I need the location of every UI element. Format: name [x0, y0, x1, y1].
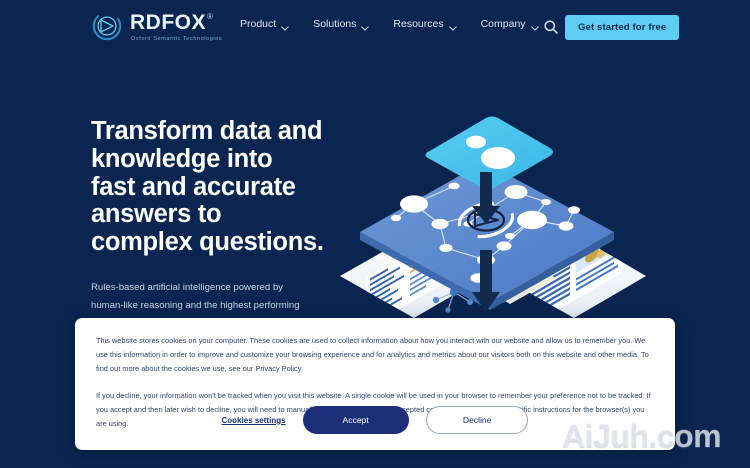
get-started-button[interactable]: Get started for free	[565, 15, 679, 40]
hero-title-line-3: fast and accurate	[91, 173, 296, 201]
search-icon[interactable]	[543, 19, 559, 35]
logo-text: RDFOX ® Oxford Semantic Technologies	[130, 12, 222, 42]
page-title: Transform data and knowledge into fast a…	[91, 118, 341, 257]
nav-label: Solutions	[313, 18, 356, 30]
accept-button[interactable]: Accept	[303, 406, 409, 434]
hero-title-line-1: Transform data and	[91, 117, 322, 145]
nav-label: Company	[481, 18, 526, 30]
hero-section: Transform data and knowledge into fast a…	[91, 118, 341, 332]
primary-navigation: Product Solutions Resources Company	[240, 18, 539, 30]
logo[interactable]: RDFOX ® Oxford Semantic Technologies	[90, 9, 222, 43]
hero-title-line-2: knowledge into	[91, 145, 272, 173]
nav-item-product[interactable]: Product	[240, 18, 289, 30]
cookie-actions: Cookies settings Accept Decline	[75, 406, 675, 434]
cookies-settings-link[interactable]: Cookies settings	[222, 416, 286, 425]
nav-item-resources[interactable]: Resources	[393, 18, 456, 30]
page-root: RDFOX ® Oxford Semantic Technologies Pro…	[0, 0, 750, 468]
logo-wordmark: RDFOX	[130, 12, 206, 33]
hero-title-line-5: complex questions.	[91, 228, 324, 256]
cookie-paragraph-1: This website stores cookies on your comp…	[96, 334, 654, 377]
chevron-down-icon	[281, 22, 289, 27]
nav-item-company[interactable]: Company	[481, 18, 539, 30]
decline-button[interactable]: Decline	[426, 406, 529, 434]
chevron-down-icon	[449, 22, 457, 27]
chevron-down-icon	[361, 22, 369, 27]
site-header: RDFOX ® Oxford Semantic Technologies Pro…	[0, 0, 750, 54]
isometric-knowledge-graph-illustration	[318, 100, 668, 330]
rdfox-logo-icon	[90, 9, 124, 43]
logo-tagline: Oxford Semantic Technologies	[131, 36, 222, 42]
nav-label: Resources	[393, 18, 443, 30]
hero-title-line-4: answers to	[91, 200, 221, 228]
nav-label: Product	[240, 18, 276, 30]
nav-item-solutions[interactable]: Solutions	[313, 18, 369, 30]
registered-mark: ®	[207, 13, 213, 21]
cookie-consent-banner: This website stores cookies on your comp…	[75, 318, 675, 450]
chevron-down-icon	[531, 22, 539, 27]
